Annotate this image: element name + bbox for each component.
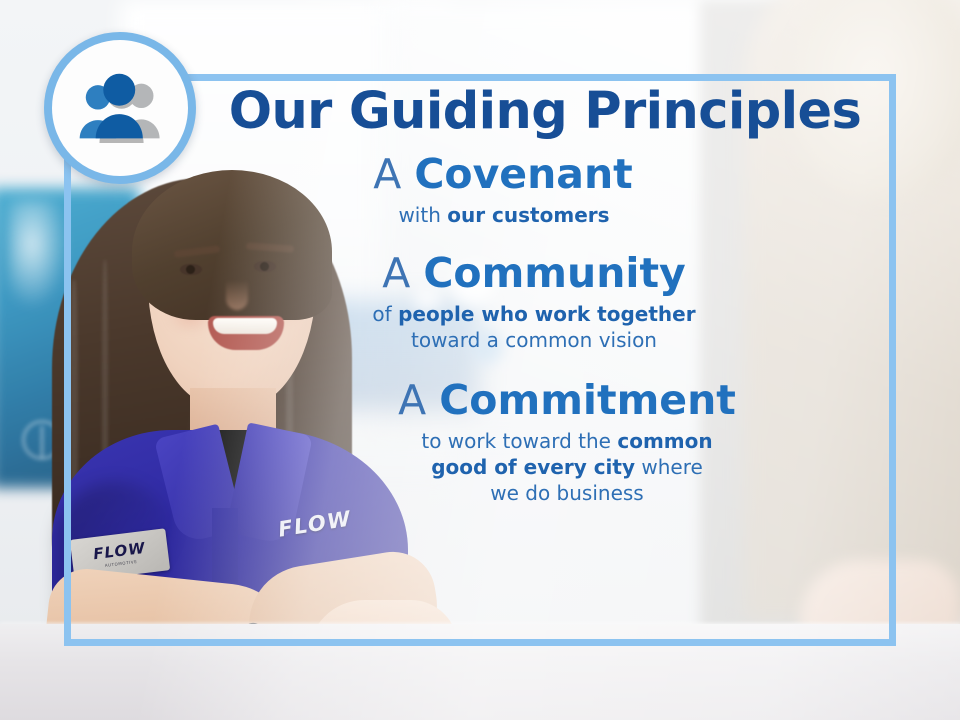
principle-article: A bbox=[373, 150, 401, 198]
principle-text-bold: good of every city bbox=[431, 455, 635, 479]
principle-line: we do business bbox=[244, 480, 890, 506]
principle-text: where bbox=[635, 455, 703, 479]
principle-text: we do business bbox=[490, 481, 643, 505]
principle-block-covenant: A Covenant with our customers bbox=[116, 153, 890, 228]
principle-text-bold: people who work together bbox=[398, 302, 696, 326]
principle-block-commitment: A Commitment to work toward the common g… bbox=[244, 379, 890, 506]
principle-heading: A Covenant bbox=[116, 153, 890, 196]
principle-heading: A Community bbox=[178, 252, 890, 295]
principle-text-bold: common bbox=[617, 429, 712, 453]
principle-block-community: A Community of people who work together … bbox=[178, 252, 890, 353]
principle-text: to work toward the bbox=[421, 429, 617, 453]
page-title: Our Guiding Principles bbox=[200, 86, 890, 137]
principle-line: with our customers bbox=[118, 202, 890, 228]
principle-text: with bbox=[398, 203, 447, 227]
principle-article: A bbox=[382, 249, 410, 297]
principle-line: toward a common vision bbox=[178, 327, 890, 353]
principle-article: A bbox=[398, 376, 426, 424]
people-group-icon bbox=[74, 73, 166, 143]
principle-text: toward a common vision bbox=[411, 328, 657, 352]
principle-text-bold: our customers bbox=[447, 203, 609, 227]
principle-keyword: Commitment bbox=[439, 376, 736, 424]
principle-keyword: Covenant bbox=[414, 150, 632, 198]
principle-keyword: Community bbox=[423, 249, 685, 297]
text-content: Our Guiding Principles A Covenant with o… bbox=[200, 86, 890, 506]
principle-line: good of every city where bbox=[244, 454, 890, 480]
principle-line: to work toward the common bbox=[244, 428, 890, 454]
principle-line: of people who work together bbox=[178, 301, 890, 327]
guiding-principles-graphic: FLOW AUTOMOTIVE FLOW bbox=[0, 0, 960, 720]
principle-heading: A Commitment bbox=[244, 379, 890, 422]
principle-text: of bbox=[372, 302, 398, 326]
